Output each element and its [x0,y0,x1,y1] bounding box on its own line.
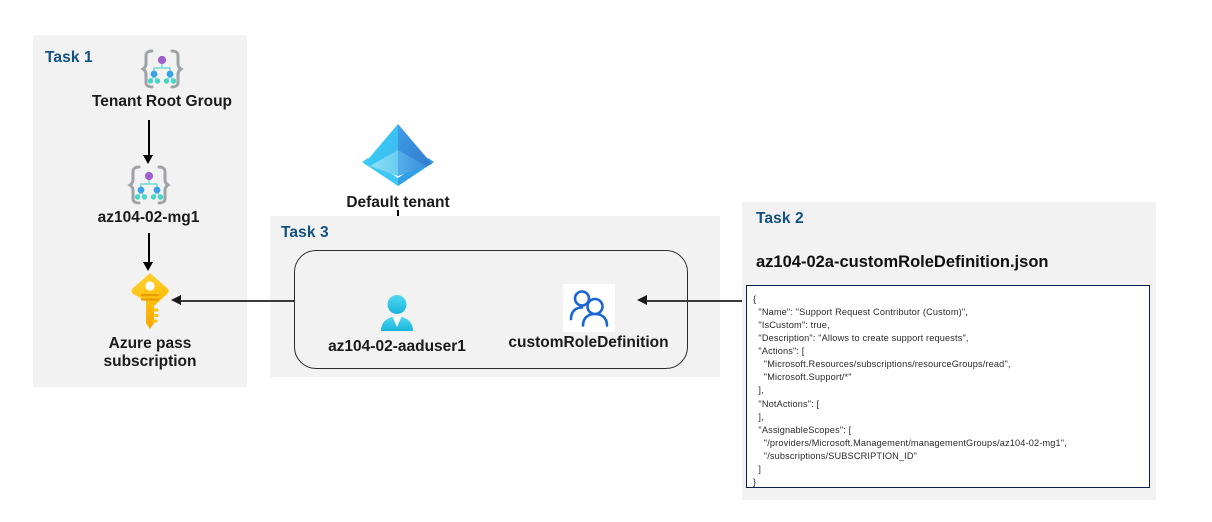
node-custom-role-definition: customRoleDefinition [501,284,676,352]
json-code-text: { "Name": "Support Request Contributor (… [747,286,1149,488]
arrowhead-json-to-role [637,295,647,305]
node-caption: az104-02-aaduser1 [328,338,466,356]
json-code-box: { "Name": "Support Request Contributor (… [746,285,1150,488]
management-group-icon [125,163,173,207]
connector-root-to-mg1 [148,120,150,158]
node-az104-02-mg1: az104-02-mg1 [77,163,220,227]
node-default-tenant: Default tenant [330,120,466,212]
node-tenant-root-group: Tenant Root Group [77,47,247,111]
role-users-icon [563,284,615,332]
diagram-canvas: Task 1 Tenant Root Group [0,0,1212,522]
task-2-label: Task 2 [756,210,804,228]
connector-task3-to-subscription [180,300,294,302]
azure-ad-tenant-icon [356,120,440,192]
node-caption: Azure pass subscription [103,335,196,372]
key-icon [127,271,173,333]
task-3-label: Task 3 [281,224,329,242]
node-az104-02-aaduser1: az104-02-aaduser1 [313,292,481,356]
node-caption: Tenant Root Group [92,93,232,111]
node-caption: az104-02-mg1 [98,209,200,227]
user-icon [375,292,419,336]
arrowhead-task3-to-subscription [171,295,181,305]
connector-json-to-role [646,300,742,302]
json-file-name: az104-02a-customRoleDefinition.json [756,253,1048,272]
node-caption: customRoleDefinition [508,334,668,352]
management-group-icon [138,47,186,91]
arrowhead-mg1-to-subscription [143,262,153,271]
node-azure-pass-subscription: Azure pass subscription [80,271,220,372]
